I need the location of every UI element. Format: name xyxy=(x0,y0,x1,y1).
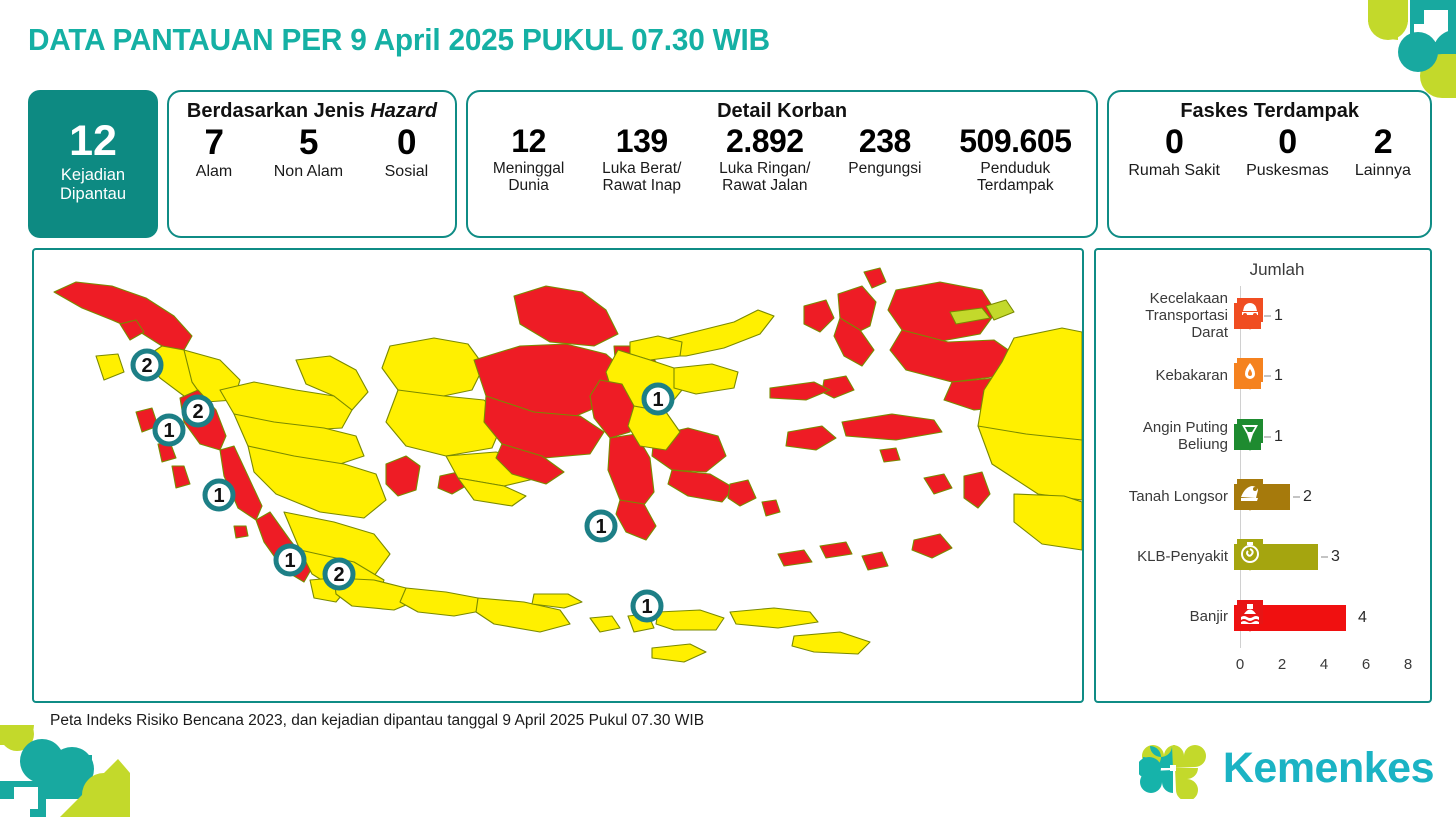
victim-detail-stats: 12 Meninggal Dunia 139 Luka Berat/ Rawat… xyxy=(474,125,1090,195)
faskes-stat-rumah-sakit-label: Rumah Sakit xyxy=(1115,162,1233,180)
victim-stat-luka-ringan-value: 2.892 xyxy=(700,125,829,159)
island-flores xyxy=(730,608,818,628)
map-landmasses xyxy=(54,268,1082,662)
hazard-stat-alam-label: Alam xyxy=(175,163,253,181)
decoration-bottom-left xyxy=(0,725,130,817)
hazard-card-title: Berdasarkan Jenis Hazard xyxy=(175,100,449,123)
chart-x-axis: 0 2 4 6 8 xyxy=(1240,656,1422,680)
chart-value-4: 3 xyxy=(1331,548,1340,566)
chart-dash-2 xyxy=(1264,436,1271,437)
chart-xtick-6: 6 xyxy=(1362,656,1370,673)
faskes-stat-rumah-sakit-value: 0 xyxy=(1115,125,1233,161)
total-events-card: 12 Kejadian Dipantau xyxy=(28,90,158,238)
region-kaltara xyxy=(514,286,618,346)
faskes-stat-puskesmas: 0 Puskesmas xyxy=(1233,125,1342,180)
hazard-stat-alam: 7 Alam xyxy=(175,125,253,181)
total-events-label-line1: Kejadian xyxy=(61,166,125,185)
victim-detail-card: Detail Korban 12 Meninggal Dunia 139 Luk… xyxy=(466,90,1098,238)
chart-track-3: 2 xyxy=(1234,467,1422,527)
faskes-stat-puskesmas-value: 0 xyxy=(1233,125,1342,161)
kemenkes-logo-icon xyxy=(1139,737,1213,799)
marker-sumbar[interactable]: 1 xyxy=(155,416,183,444)
kemenkes-brand: Kemenkes xyxy=(1139,737,1434,799)
chart-value-2: 1 xyxy=(1274,428,1283,446)
total-events-label-line2: Dipantau xyxy=(60,185,126,204)
marker-jawa[interactable]: 2 xyxy=(325,560,353,588)
hazard-stat-sosial-label: Sosial xyxy=(364,163,449,181)
island-bangka xyxy=(386,456,420,496)
chart-value-3: 2 xyxy=(1303,488,1312,506)
chart-value-0: 1 xyxy=(1274,307,1283,325)
victim-stat-pengungsi-value: 238 xyxy=(829,125,940,159)
indonesia-risk-map-panel[interactable]: 2 2 1 1 1 2 1 xyxy=(32,248,1084,703)
marker-sulsel[interactable]: 1 xyxy=(587,512,615,540)
marker-sumut-value: 2 xyxy=(192,401,203,423)
marker-gorontalo-value: 1 xyxy=(652,389,663,411)
faskes-stat-lainnya-label: Lainnya xyxy=(1342,162,1424,180)
chart-row-klb-penyakit[interactable]: KLB-Penyakit 3 xyxy=(1102,527,1422,587)
marker-bengkulu-value: 1 xyxy=(213,485,224,507)
marker-sumbar-value: 1 xyxy=(163,420,174,442)
victim-stat-meninggal-value: 12 xyxy=(474,125,583,159)
chart-label-kecelakaan-transportasi-darat: Kecelakaan Transportasi Darat xyxy=(1102,291,1234,341)
hazard-card-title-plain: Berdasarkan Jenis xyxy=(187,100,370,122)
chart-value-1: 1 xyxy=(1274,367,1283,385)
tornado-icon xyxy=(1235,417,1265,457)
victim-stat-luka-ringan: 2.892 Luka Ringan/ Rawat Jalan xyxy=(700,125,829,195)
island-buru xyxy=(786,426,836,450)
chart-row-kecelakaan-transportasi-darat[interactable]: Kecelakaan Transportasi Darat 1 xyxy=(1102,286,1422,346)
hazard-card-title-emphasis: Hazard xyxy=(370,100,437,122)
chart-dash-1 xyxy=(1264,376,1271,377)
marker-sulsel-value: 1 xyxy=(595,516,606,538)
marker-sumut[interactable]: 2 xyxy=(184,397,212,425)
marker-banten[interactable]: 1 xyxy=(276,546,304,574)
island-alor xyxy=(778,550,812,566)
chart-track-1: 1 xyxy=(1234,346,1422,406)
chart-label-banjir: Banjir xyxy=(1102,609,1234,626)
victim-stat-pengungsi: 238 Pengungsi xyxy=(829,125,940,177)
hazard-stat-alam-value: 7 xyxy=(175,125,253,162)
island-sumbawa xyxy=(656,610,724,630)
chart-body: Kecelakaan Transportasi Darat 1 Kebakara… xyxy=(1102,282,1422,654)
health-facility-card: Faskes Terdampak 0 Rumah Sakit 0 Puskesm… xyxy=(1107,90,1432,238)
island-tanimbar xyxy=(912,534,952,558)
region-jawa-tengah xyxy=(400,588,486,616)
marker-bengkulu[interactable]: 1 xyxy=(205,481,233,509)
region-sulteng-e xyxy=(674,364,738,394)
island-kei xyxy=(924,474,952,494)
victim-stat-penduduk-terdampak: 509.605 Penduduk Terdampak xyxy=(940,125,1090,195)
chart-row-banjir[interactable]: Banjir 4 xyxy=(1102,588,1422,648)
chart-xtick-0: 0 xyxy=(1236,656,1244,673)
chart-track-4: 3 xyxy=(1234,527,1422,587)
hazard-stat-non-alam-label: Non Alam xyxy=(253,163,364,181)
chart-xtick-2: 2 xyxy=(1278,656,1286,673)
footnote-source: Peta Indeks Risiko Bencana 2023, dan kej… xyxy=(50,712,704,730)
kpi-row: 12 Kejadian Dipantau Berdasarkan Jenis H… xyxy=(28,90,1432,238)
island-sula xyxy=(770,382,830,400)
health-facility-stats: 0 Rumah Sakit 0 Puskesmas 2 Lainnya xyxy=(1115,125,1424,180)
chart-rows: Kecelakaan Transportasi Darat 1 Kebakara… xyxy=(1102,286,1422,648)
island-enggano xyxy=(234,526,248,538)
total-events-value: 12 xyxy=(69,120,117,163)
marker-gorontalo[interactable]: 1 xyxy=(644,385,672,413)
indonesia-map-svg[interactable]: 2 2 1 1 1 2 1 xyxy=(34,250,1082,701)
region-papua-selatan xyxy=(1014,494,1082,550)
island-morotai xyxy=(864,268,886,288)
chart-track-5: 4 xyxy=(1234,588,1422,648)
flood-icon xyxy=(1235,598,1265,638)
landslide-icon xyxy=(1235,477,1265,517)
victim-stat-meninggal: 12 Meninggal Dunia xyxy=(474,125,583,195)
chart-xtick-8: 8 xyxy=(1404,656,1412,673)
hazard-stat-sosial-value: 0 xyxy=(364,125,449,162)
island-timor xyxy=(792,632,870,654)
marker-ntt-value: 1 xyxy=(641,596,652,618)
victim-stat-penduduk-terdampak-label: Penduduk Terdampak xyxy=(940,160,1090,196)
hazard-stats: 7 Alam 5 Non Alam 0 Sosial xyxy=(175,125,449,181)
chart-label-angin-puting-beliung: Angin Puting Beliung xyxy=(1102,420,1234,454)
chart-xtick-4: 4 xyxy=(1320,656,1328,673)
chart-label-tanah-longsor: Tanah Longsor xyxy=(1102,489,1234,506)
marker-banten-value: 1 xyxy=(284,550,295,572)
chart-row-kebakaran[interactable]: Kebakaran 1 xyxy=(1102,346,1422,406)
chart-label-kebakaran: Kebakaran xyxy=(1102,368,1234,385)
chart-row-tanah-longsor[interactable]: Tanah Longsor 2 xyxy=(1102,467,1422,527)
health-facility-card-title: Faskes Terdampak xyxy=(1115,100,1424,123)
chart-track-2: 1 xyxy=(1234,407,1422,467)
island-sumba xyxy=(652,644,706,662)
victim-detail-card-title: Detail Korban xyxy=(474,100,1090,123)
faskes-stat-rumah-sakit: 0 Rumah Sakit xyxy=(1115,125,1233,180)
region-sultra-s xyxy=(668,470,734,502)
chart-label-klb-penyakit: KLB-Penyakit xyxy=(1102,549,1234,566)
island-obi xyxy=(822,376,854,398)
chart-value-5: 4 xyxy=(1358,609,1367,627)
region-aceh xyxy=(54,282,192,350)
disease-outbreak-icon xyxy=(1235,537,1265,577)
chart-track-0: 1 xyxy=(1234,286,1422,346)
marker-aceh[interactable]: 2 xyxy=(133,351,161,379)
island-simeulue xyxy=(96,354,124,380)
marker-jawa-value: 2 xyxy=(333,564,344,586)
region-buton xyxy=(728,480,756,506)
marker-aceh-value: 2 xyxy=(141,355,152,377)
faskes-stat-lainnya-value: 2 xyxy=(1342,125,1424,161)
region-kalbar xyxy=(382,338,484,398)
victim-stat-pengungsi-label: Pengungsi xyxy=(829,160,940,178)
transport-accident-icon xyxy=(1235,296,1265,336)
chart-dash-3 xyxy=(1293,497,1300,498)
victim-stat-luka-berat-label: Luka Berat/ Rawat Inap xyxy=(583,160,700,196)
island-seram xyxy=(842,414,942,440)
island-babar xyxy=(862,552,888,570)
island-wakatobi xyxy=(762,500,780,516)
marker-ntt[interactable]: 1 xyxy=(633,592,661,620)
page-title: DATA PANTAUAN PER 9 April 2025 PUKUL 07.… xyxy=(28,22,770,58)
victim-stat-luka-berat: 139 Luka Berat/ Rawat Inap xyxy=(583,125,700,195)
fire-icon xyxy=(1235,356,1265,396)
island-wetar xyxy=(820,542,852,558)
hazard-type-card: Berdasarkan Jenis Hazard 7 Alam 5 Non Al… xyxy=(167,90,457,238)
victim-stat-meninggal-label: Meninggal Dunia xyxy=(474,160,583,196)
chart-dash-4 xyxy=(1321,557,1328,558)
island-halmahera-w xyxy=(804,300,834,332)
hazard-count-chart-panel: Jumlah Kecelakaan Transportasi Darat 1 xyxy=(1094,248,1432,703)
hazard-stat-sosial: 0 Sosial xyxy=(364,125,449,181)
victim-stat-luka-berat-value: 139 xyxy=(583,125,700,159)
island-mentawai3 xyxy=(172,466,190,488)
chart-row-angin-puting-beliung[interactable]: Angin Puting Beliung 1 xyxy=(1102,407,1422,467)
region-sulsel-s xyxy=(616,500,656,540)
island-aru xyxy=(964,472,990,508)
victim-stat-penduduk-terdampak-value: 509.605 xyxy=(940,125,1090,159)
hazard-stat-non-alam-value: 5 xyxy=(253,125,364,162)
kemenkes-wordmark: Kemenkes xyxy=(1223,744,1434,793)
faskes-stat-lainnya: 2 Lainnya xyxy=(1342,125,1424,180)
island-banda xyxy=(880,448,900,462)
chart-dash-0 xyxy=(1264,316,1271,317)
island-bali xyxy=(590,616,620,632)
chart-title: Jumlah xyxy=(1132,260,1422,280)
faskes-stat-puskesmas-label: Puskesmas xyxy=(1233,162,1342,180)
hazard-stat-non-alam: 5 Non Alam xyxy=(253,125,364,181)
victim-stat-luka-ringan-label: Luka Ringan/ Rawat Jalan xyxy=(700,160,829,196)
